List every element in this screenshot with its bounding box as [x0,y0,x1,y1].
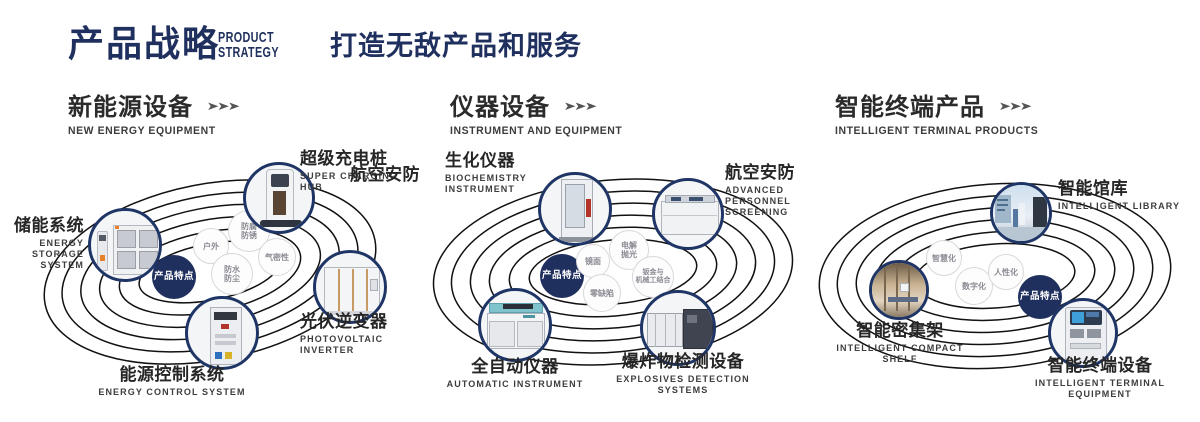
chevrons-icon: ➤➤➤ [998,98,1030,112]
pv-inverter-cabinet-icon [316,253,384,321]
section-heading-new-energy: 新能源设备 ➤➤➤ NEW ENERGY EQUIPMENT [68,95,238,137]
section-title-cn: 仪器设备 [450,95,550,120]
page-title: 产品战略 [68,26,220,62]
node-label-automatic-instrument: 全自动仪器 AUTOMATIC INSTRUMENT [430,358,600,390]
energy-storage-cabinet-icon [91,211,159,279]
feature-bubble-1: 智慧化 [926,240,962,276]
cluster-intelligent-terminal: 智慧化 数字化 人性化 产品特点 智能馆库 INTELLIGENT LIBRAR… [790,150,1200,410]
section-title-en: INSTRUMENT AND EQUIPMENT [450,125,622,137]
section-title-en: NEW ENERGY EQUIPMENT [68,125,230,137]
section-title-cn: 智能终端产品 [835,95,985,120]
node-energy-control-system[interactable] [185,296,259,370]
automatic-instrument-icon [481,291,549,359]
feature-bubble-1: 镜面 [576,244,610,278]
chevrons-icon: ➤➤➤ [206,98,238,112]
page-title-english: PRODUCT STRATEGY [218,30,279,60]
feature-bubble-3: 防水 防尘 [211,253,253,295]
feature-bubble-3: 人性化 [988,254,1024,290]
node-label-energy-storage-system: 储能系统 ENERGY STORAGE SYSTEM [0,217,84,271]
node-automatic-instrument[interactable] [478,288,552,362]
node-label-energy-control-system: 能源控制系统 ENERGY CONTROL SYSTEM [72,366,272,398]
smart-library-icon [993,185,1049,241]
node-intelligent-compact-shelf[interactable] [869,260,929,320]
node-label-intelligent-library: 智能馆库 INTELLIGENT LIBRARY [1058,180,1180,212]
chevrons-icon: ➤➤➤ [563,98,595,112]
page-header: 产品战略 PRODUCT STRATEGY 打造无敌产品和服务 [0,0,1200,88]
node-biochemistry-instrument[interactable] [538,172,612,246]
node-label-biochemistry-instrument: 生化仪器 BIOCHEMISTRY INSTRUMENT [445,152,527,195]
section-heading-instruments: 仪器设备 ➤➤➤ INSTRUMENT AND EQUIPMENT [450,95,631,137]
section-heading-intelligent-terminal: 智能终端产品 ➤➤➤ INTELLIGENT TERMINAL PRODUCTS [835,95,1049,137]
node-label-intelligent-terminal-equipment: 智能终端设备 INTELLIGENT TERMINAL EQUIPMENT [1005,357,1195,400]
section-title-cn: 新能源设备 [68,95,193,120]
node-label-explosives-detection-systems: 爆炸物检测设备 EXPLOSIVES DETECTION SYSTEMS [598,353,768,396]
section-title-en: INTELLIGENT TERMINAL PRODUCTS [835,125,1038,137]
biochemistry-analyzer-icon [541,175,609,243]
node-label-aviation-security: 航空安防 [310,166,420,185]
node-label-intelligent-compact-shelf: 智能密集架 INTELLIGENT COMPACT SHELF [815,322,985,365]
node-intelligent-library[interactable] [990,182,1052,244]
screening-machine-icon [655,181,721,247]
control-cabinet-icon [188,299,256,367]
node-advanced-personnel-screening[interactable] [652,178,724,250]
product-strategy-infographic: 产品战略 PRODUCT STRATEGY 打造无敌产品和服务 新能源设备 ➤➤… [0,0,1200,422]
feature-bubble-4: 气密性 [258,238,296,276]
cluster-new-energy: 产品特点 户外 防腐 防锈 防水 防尘 气密性 储能系统 ENERGY STOR… [0,150,420,410]
feature-bubble-3: 零缺陷 [583,274,621,312]
cluster-instruments: 产品特点 镜面 电解 抛光 零缺陷 钣金与 机械工结合 生化仪器 BIOCHEM… [400,150,820,410]
node-energy-storage-system[interactable] [88,208,162,282]
title-en-line1: PRODUCT [218,30,279,45]
compact-shelf-icon [872,263,926,317]
page-slogan: 打造无敌产品和服务 [330,33,582,60]
title-en-line2: STRATEGY [218,45,279,60]
